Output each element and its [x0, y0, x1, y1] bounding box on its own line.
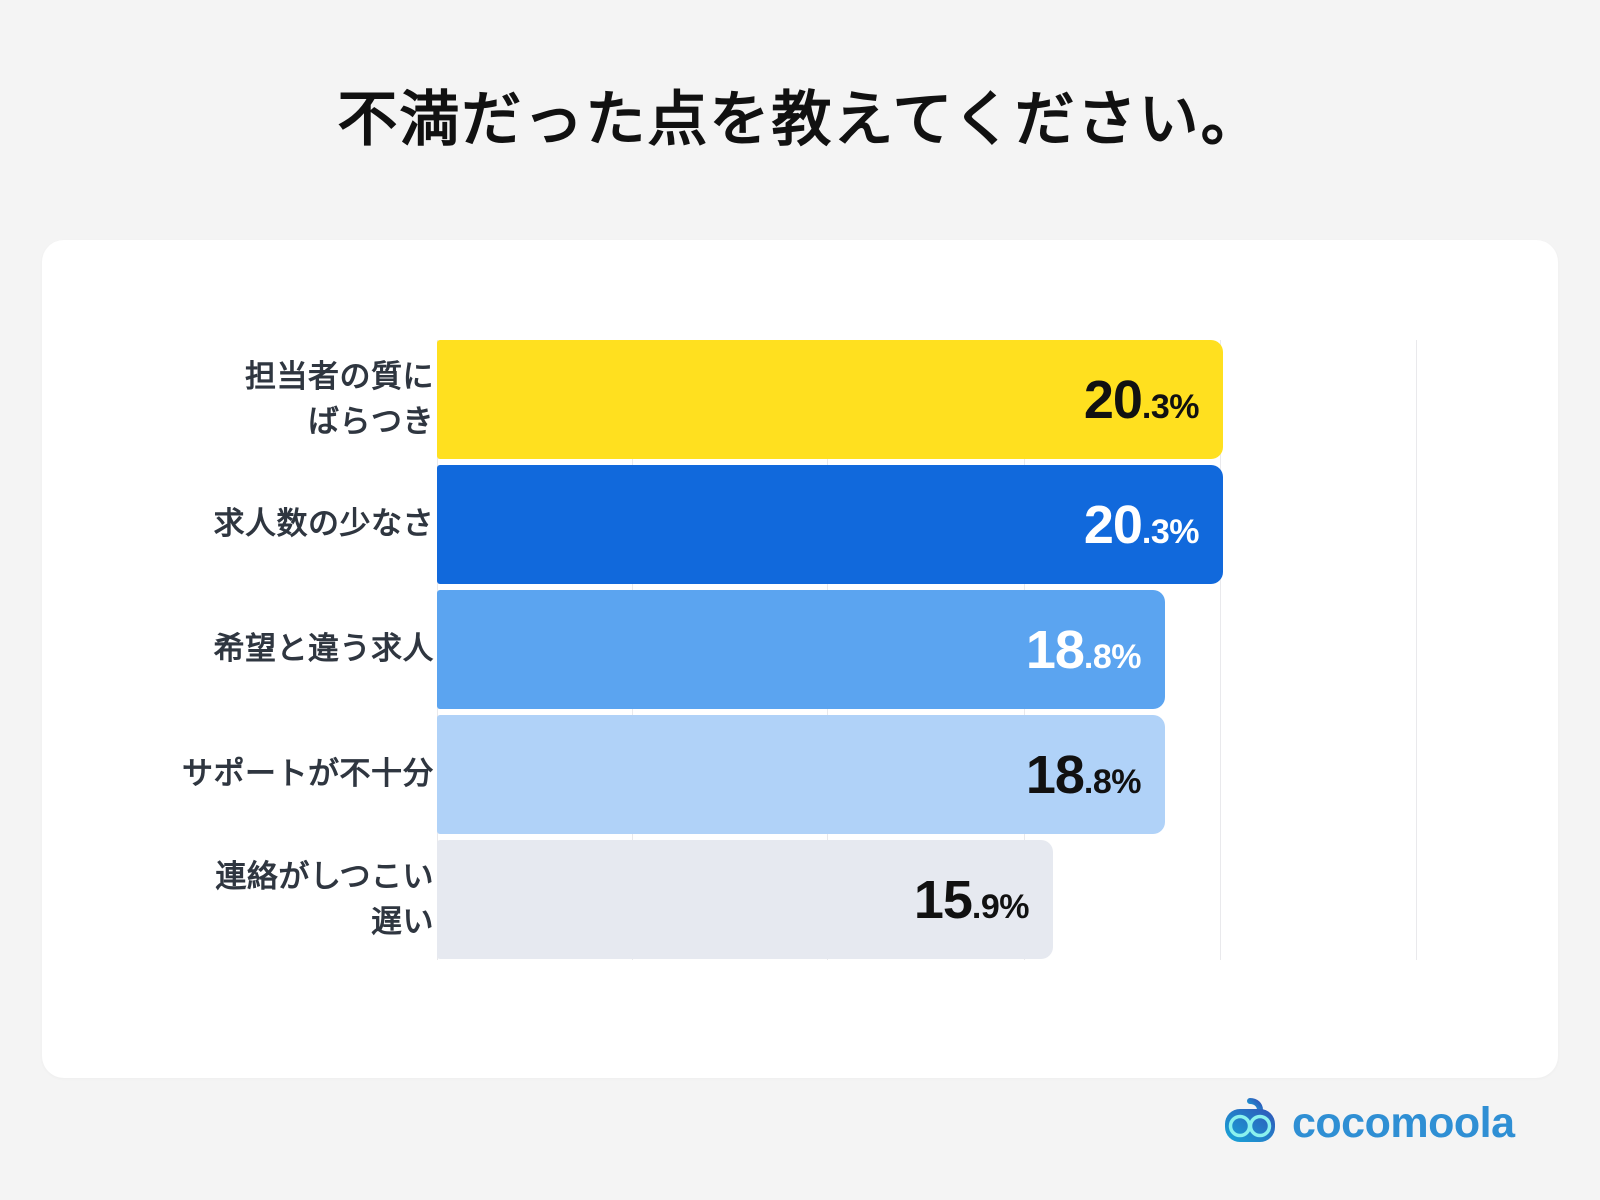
- category-label-line: 遅い: [371, 900, 434, 945]
- bar-value-label: 18 .8%: [1026, 623, 1141, 677]
- brand-name: cocomoola: [1292, 1102, 1515, 1145]
- page-title: 不満だった点を教えてください。: [0, 84, 1600, 156]
- bar-value-integer: 20: [1084, 498, 1142, 552]
- bar-row: 担当者の質に ばらつき 20 .3%: [42, 340, 1558, 465]
- bar-value-integer: 18: [1026, 748, 1084, 802]
- bar-row: 希望と違う求人 18 .8%: [42, 590, 1558, 715]
- bar-value-fraction: .8%: [1084, 640, 1141, 674]
- bar-value-label: 18 .8%: [1026, 748, 1141, 802]
- bar-row: サポートが不十分 18 .8%: [42, 715, 1558, 840]
- brand-logo: cocomoola: [1222, 1096, 1515, 1151]
- bar-value-integer: 15: [914, 873, 972, 927]
- robot-head-icon: [1222, 1096, 1278, 1151]
- bar-value-label: 20 .3%: [1084, 498, 1199, 552]
- category-label: 連絡がしつこい 遅い: [14, 840, 434, 959]
- category-label: 求人数の少なさ: [14, 465, 434, 584]
- bar-value-integer: 20: [1084, 373, 1142, 427]
- bar-row: 求人数の少なさ 20 .3%: [42, 465, 1558, 590]
- category-label-line: ばらつき: [308, 400, 434, 445]
- category-label: 担当者の質に ばらつき: [14, 340, 434, 459]
- bar: 20 .3%: [437, 465, 1223, 584]
- category-label: サポートが不十分: [14, 715, 434, 834]
- chart-card: 担当者の質に ばらつき 20 .3% 求人数の少なさ: [42, 240, 1558, 1078]
- chart-page: 不満だった点を教えてください。 担当者の質に ばらつき 20: [0, 0, 1600, 1200]
- bar-value-fraction: .3%: [1142, 515, 1199, 549]
- category-label: 希望と違う求人: [14, 590, 434, 709]
- bar-value-fraction: .8%: [1084, 765, 1141, 799]
- bar-value-fraction: .3%: [1142, 390, 1199, 424]
- bar: 15 .9%: [437, 840, 1053, 959]
- category-label-line: 求人数の少なさ: [214, 502, 435, 547]
- bar: 20 .3%: [437, 340, 1223, 459]
- category-label-line: 連絡がしつこい: [215, 855, 434, 900]
- bar: 18 .8%: [437, 715, 1165, 834]
- bar: 18 .8%: [437, 590, 1165, 709]
- bar-rows: 担当者の質に ばらつき 20 .3% 求人数の少なさ: [42, 340, 1558, 965]
- bar-row: 連絡がしつこい 遅い 15 .9%: [42, 840, 1558, 965]
- bar-value-label: 20 .3%: [1084, 373, 1199, 427]
- bar-value-fraction: .9%: [972, 890, 1029, 924]
- category-label-line: 担当者の質に: [245, 355, 434, 400]
- plot-area: 担当者の質に ばらつき 20 .3% 求人数の少なさ: [42, 240, 1558, 1078]
- category-label-line: 希望と違う求人: [214, 627, 435, 672]
- category-label-line: サポートが不十分: [182, 752, 434, 797]
- bar-value-integer: 18: [1026, 623, 1084, 677]
- bar-value-label: 15 .9%: [914, 873, 1029, 927]
